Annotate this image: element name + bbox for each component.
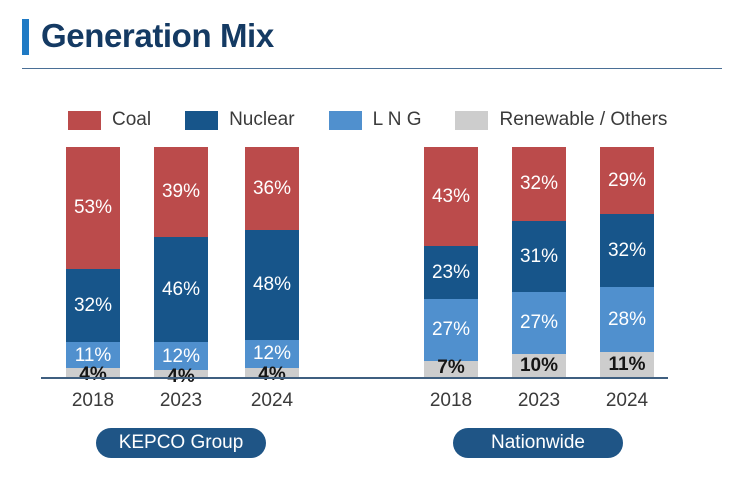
bar-segment-nuclear: 48% [245, 230, 299, 340]
bar-segment-renewable-others: 11% [600, 352, 654, 377]
bar-segment-value: 4% [79, 365, 106, 384]
bar-segment-value: 39% [162, 182, 200, 201]
bar-segment-value: 46% [162, 280, 200, 299]
bar-segment-value: 12% [253, 344, 291, 363]
bar-segment-l-n-g: 27% [512, 292, 566, 354]
bar-segment-nuclear: 32% [66, 269, 120, 343]
bar-segment-value: 11% [609, 355, 646, 374]
group-pill-nationwide: Nationwide [453, 428, 623, 458]
bar-segment-renewable-others: 10% [512, 354, 566, 377]
x-axis-label-2018: 2018 [424, 390, 478, 412]
x-axis-label-2018: 2018 [66, 390, 120, 412]
bar-segment-coal: 43% [424, 147, 478, 246]
bar-kepco-group-2018: 53%32%11%4% [66, 147, 120, 377]
bar-segment-value: 27% [520, 313, 558, 332]
bar-segment-coal: 36% [245, 147, 299, 230]
bar-segment-value: 31% [520, 247, 558, 266]
bar-segment-l-n-g: 28% [600, 287, 654, 351]
bar-segment-value: 32% [74, 296, 112, 315]
bar-nationwide-2024: 29%32%28%11% [600, 147, 654, 377]
bar-segment-coal: 29% [600, 147, 654, 214]
bar-segment-value: 36% [253, 179, 291, 198]
bar-segment-value: 10% [520, 356, 558, 375]
bar-segment-value: 43% [432, 187, 470, 206]
bar-segment-value: 32% [608, 241, 646, 260]
bar-nationwide-2023: 32%31%27%10% [512, 147, 566, 377]
bar-segment-renewable-others: 7% [424, 361, 478, 377]
bar-segment-renewable-others: 4% [66, 368, 120, 377]
x-axis-label-2023: 2023 [154, 390, 208, 412]
bar-segment-coal: 53% [66, 147, 120, 269]
bar-segment-nuclear: 31% [512, 221, 566, 292]
group-pill-kepco: KEPCO Group [96, 428, 266, 458]
bar-segment-value: 11% [75, 346, 112, 365]
bar-segment-coal: 32% [512, 147, 566, 221]
bar-segment-value: 27% [432, 320, 470, 339]
bar-segment-value: 23% [432, 263, 470, 282]
bar-segment-value: 53% [74, 198, 112, 217]
x-axis-label-2024: 2024 [245, 390, 299, 412]
x-axis-label-2023: 2023 [512, 390, 566, 412]
bar-kepco-group-2023: 39%46%12%4% [154, 147, 208, 377]
bar-segment-value: 7% [437, 358, 464, 377]
bar-kepco-group-2024: 36%48%12%4% [245, 147, 299, 377]
x-axis-label-2024: 2024 [600, 390, 654, 412]
bar-nationwide-2018: 43%23%27%7% [424, 147, 478, 377]
bar-segment-value: 29% [608, 171, 646, 190]
bar-segment-l-n-g: 27% [424, 299, 478, 361]
bar-segment-value: 12% [162, 347, 200, 366]
bar-segment-coal: 39% [154, 147, 208, 237]
x-axis-line [41, 377, 668, 379]
bar-segment-value: 28% [608, 310, 646, 329]
chart-plot-area: 53%32%11%4%39%46%12%4%36%48%12%4%43%23%2… [0, 0, 733, 502]
bar-segment-nuclear: 23% [424, 246, 478, 299]
bar-segment-nuclear: 46% [154, 237, 208, 343]
bar-segment-value: 32% [520, 174, 558, 193]
bar-segment-renewable-others: 4% [245, 368, 299, 377]
bar-segment-value: 48% [253, 275, 291, 294]
bar-segment-nuclear: 32% [600, 214, 654, 288]
bar-segment-value: 4% [258, 365, 285, 384]
